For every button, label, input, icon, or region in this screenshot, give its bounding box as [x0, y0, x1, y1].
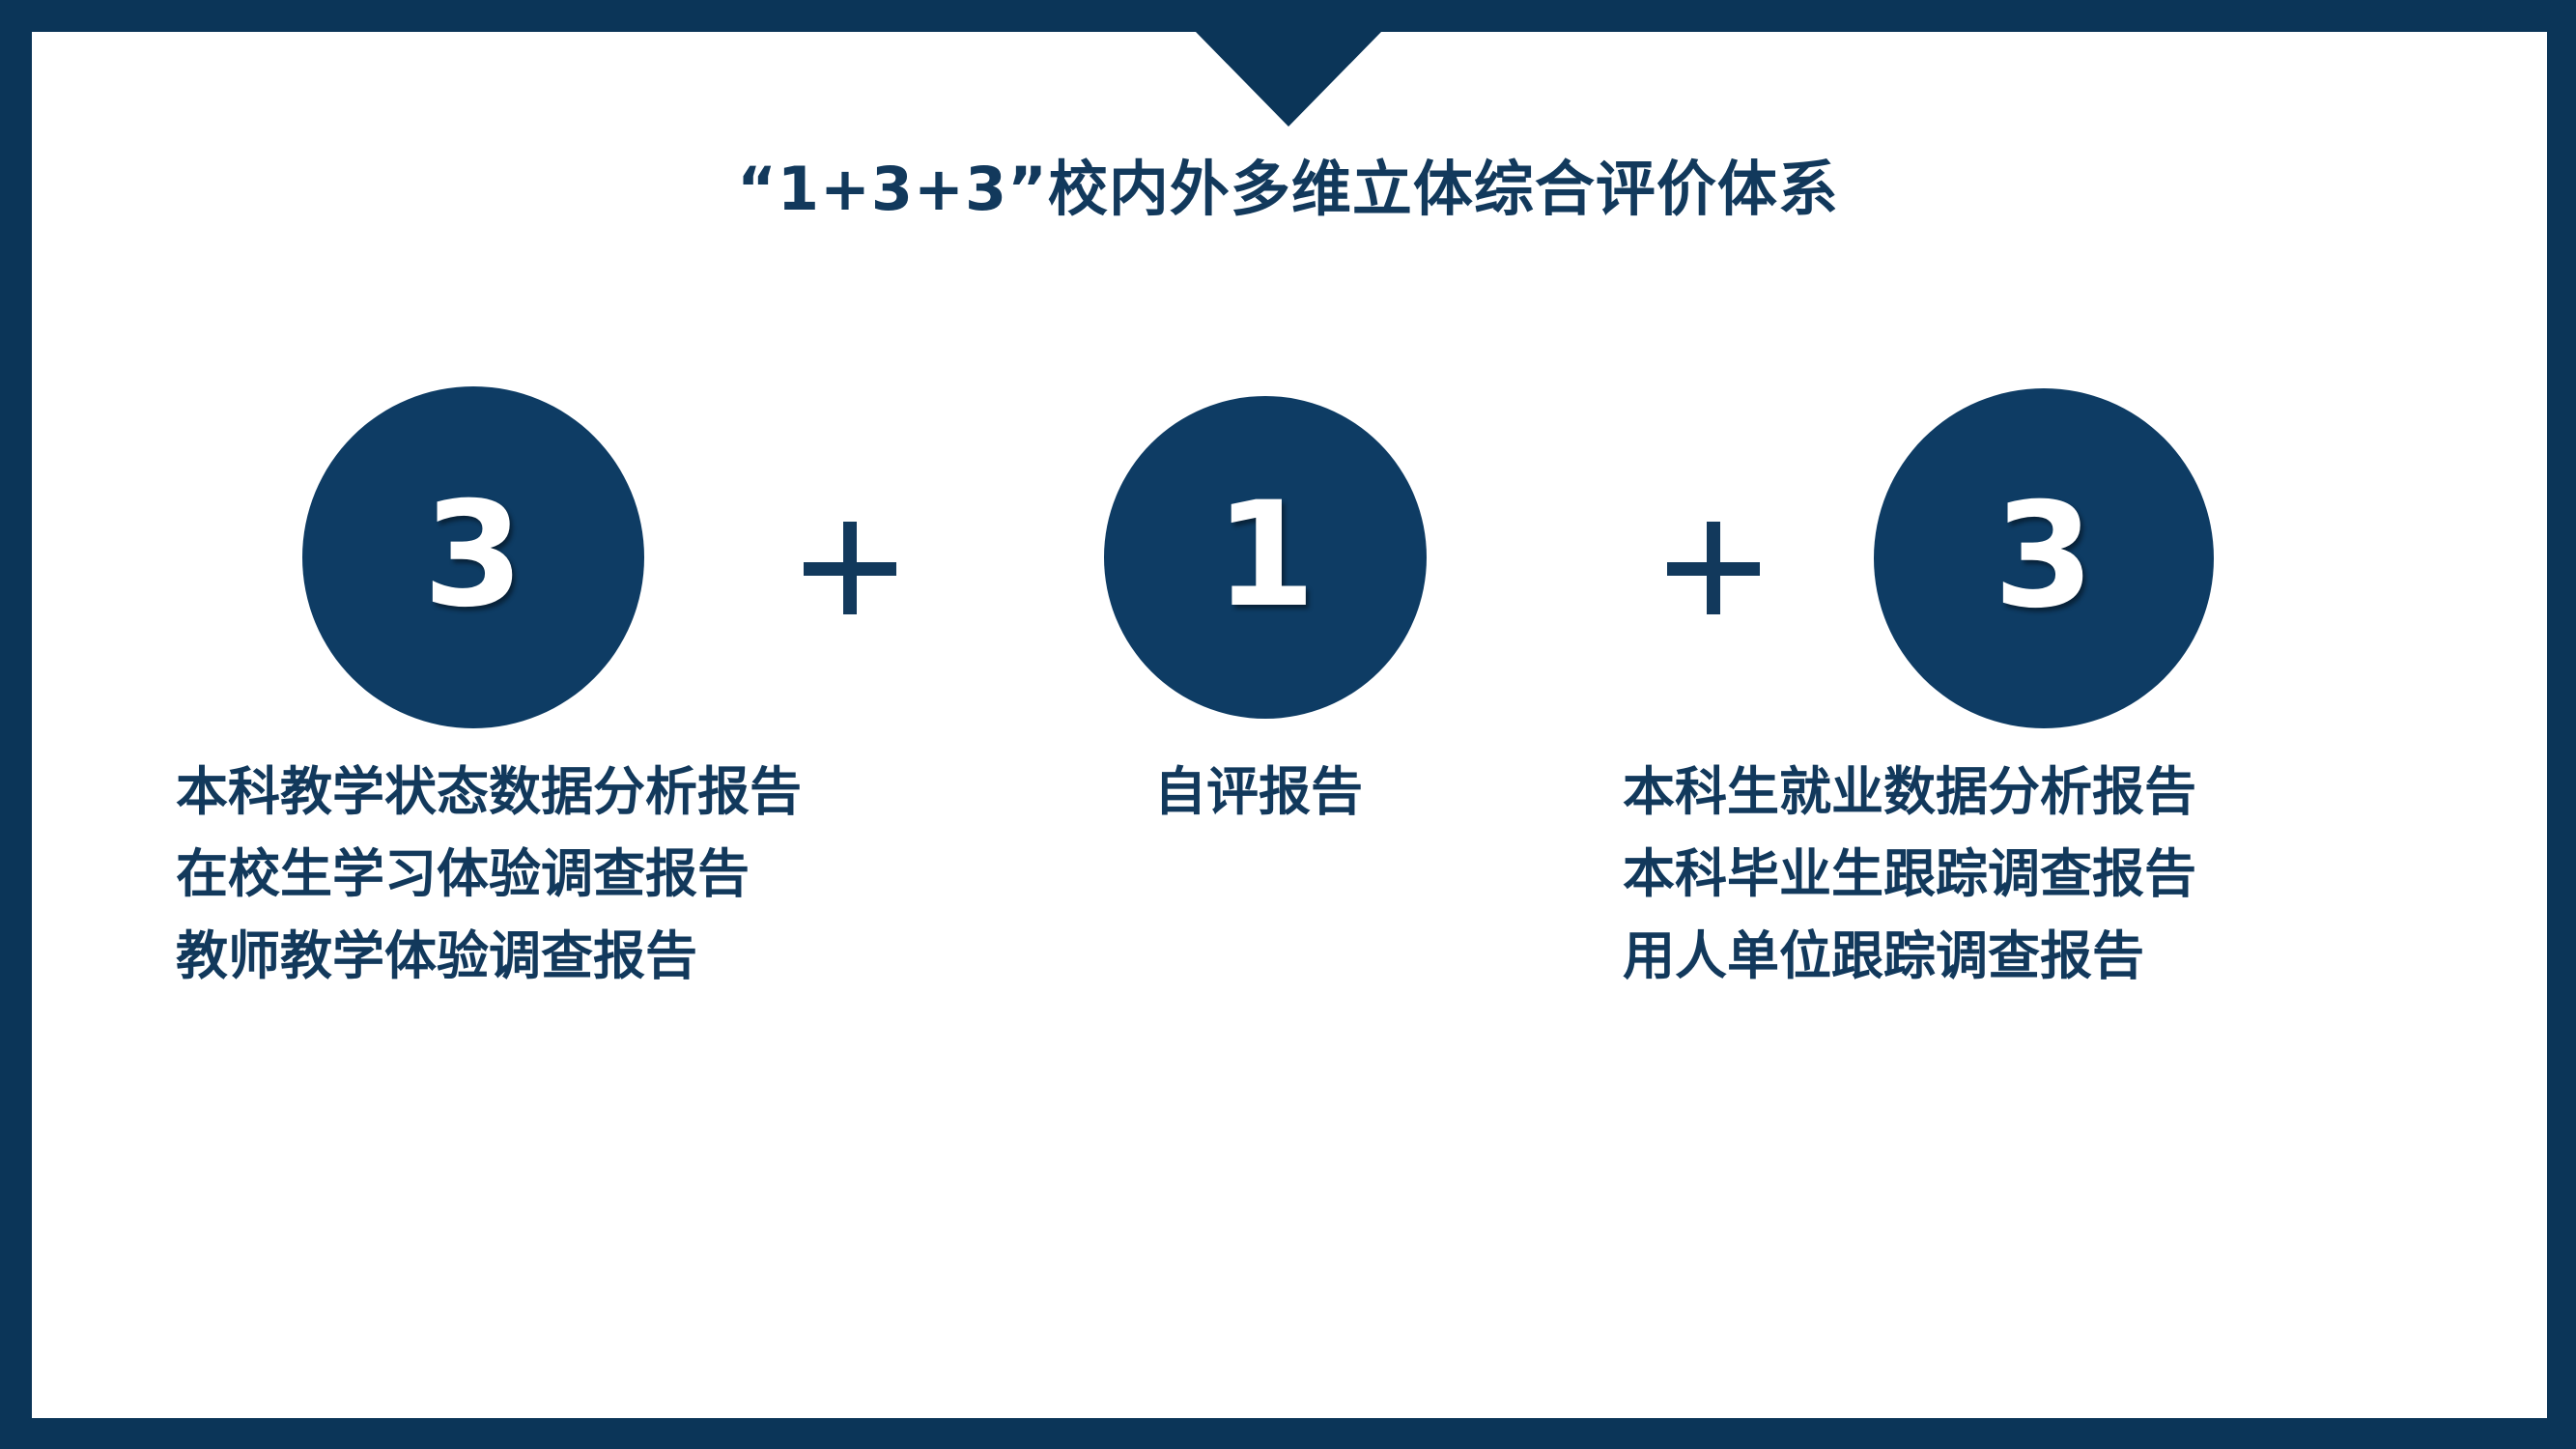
- slide-root: “1+3+3”校内外多维立体综合评价体系 3 1 3 本科教学状态数据分析报告 …: [0, 0, 2576, 1449]
- plus-icon-1: [804, 522, 896, 614]
- caption-line: 本科毕业生跟踪调查报告: [1623, 833, 2196, 915]
- circle-badge-self-assessment[interactable]: 1: [1104, 396, 1427, 719]
- circle-number: 3: [423, 483, 524, 628]
- caption-line: 教师教学体验调查报告: [176, 915, 802, 997]
- circle-badge-external-reports[interactable]: 3: [1874, 388, 2214, 728]
- slide-canvas: [32, 32, 2547, 1418]
- plus-icon-2: [1667, 522, 1760, 614]
- caption-line: 本科教学状态数据分析报告: [176, 751, 802, 833]
- circle-badge-internal-reports[interactable]: 3: [302, 386, 644, 728]
- caption-external-reports: 本科生就业数据分析报告 本科毕业生跟踪调查报告 用人单位跟踪调查报告: [1623, 751, 2196, 997]
- caption-line: 用人单位跟踪调查报告: [1623, 915, 2196, 997]
- caption-line: 自评报告: [1154, 751, 1363, 833]
- page-title: “1+3+3”校内外多维立体综合评价体系: [0, 157, 2576, 220]
- caption-internal-reports: 本科教学状态数据分析报告 在校生学习体验调查报告 教师教学体验调查报告: [176, 751, 802, 997]
- circle-number: 3: [1994, 484, 2094, 629]
- circle-number: 1: [1215, 483, 1316, 628]
- caption-line: 本科生就业数据分析报告: [1623, 751, 2196, 833]
- caption-self-assessment: 自评报告: [1154, 751, 1363, 833]
- caption-line: 在校生学习体验调查报告: [176, 833, 802, 915]
- top-notch-triangle-icon: [1195, 31, 1382, 127]
